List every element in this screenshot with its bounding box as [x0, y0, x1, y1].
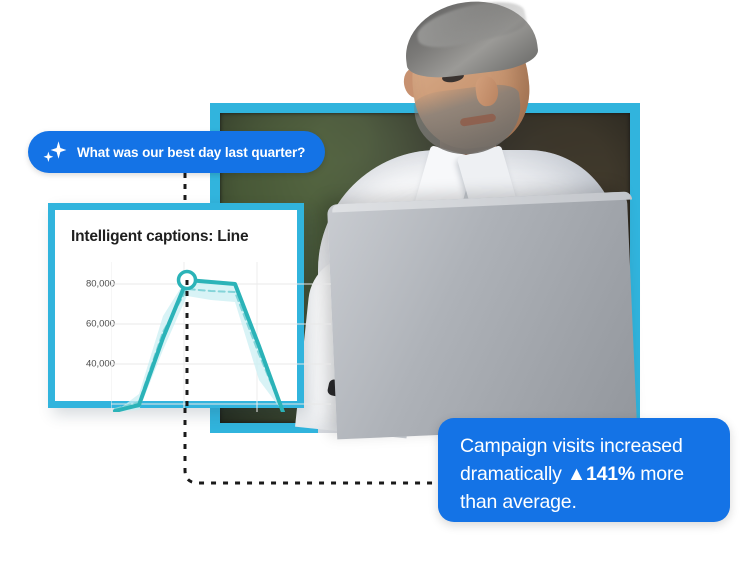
hair	[400, 0, 540, 82]
caption-highlight-value: 141%	[586, 463, 635, 485]
question-pill[interactable]: What was our best day last quarter?	[28, 131, 325, 173]
infographic-stage: Intelligent captions: Line 80,000 60,000…	[0, 0, 750, 563]
insight-caption-box: Campaign visits increased dramatically ▲…	[438, 418, 730, 522]
sparkle-small	[44, 152, 54, 162]
caption-line-2-post: more	[635, 463, 684, 485]
caption-line-3: than average.	[460, 491, 577, 513]
caption-triangle-icon: ▲	[567, 463, 586, 485]
insight-caption-text: Campaign visits increased dramatically ▲…	[460, 432, 716, 516]
sparkle-large	[51, 141, 67, 159]
caption-line-2-pre: dramatically	[460, 463, 567, 485]
hair-highlight	[413, 0, 528, 53]
caption-line-1: Campaign visits increased	[460, 435, 683, 457]
ear	[402, 66, 429, 99]
chart-plot-area: 80,000 60,000 40,000	[55, 262, 297, 408]
y-axis-tick-labels: 80,000 60,000 40,000	[63, 262, 115, 408]
chart-card: Intelligent captions: Line 80,000 60,000…	[48, 203, 304, 408]
line-chart-svg	[111, 262, 331, 412]
eyebrow	[434, 54, 473, 68]
eye	[441, 70, 464, 83]
chart-title: Intelligent captions: Line	[71, 228, 248, 246]
sparkle-icon-svg	[42, 139, 68, 165]
question-pill-text: What was our best day last quarter?	[77, 145, 305, 160]
sparkle-icon	[42, 139, 68, 165]
